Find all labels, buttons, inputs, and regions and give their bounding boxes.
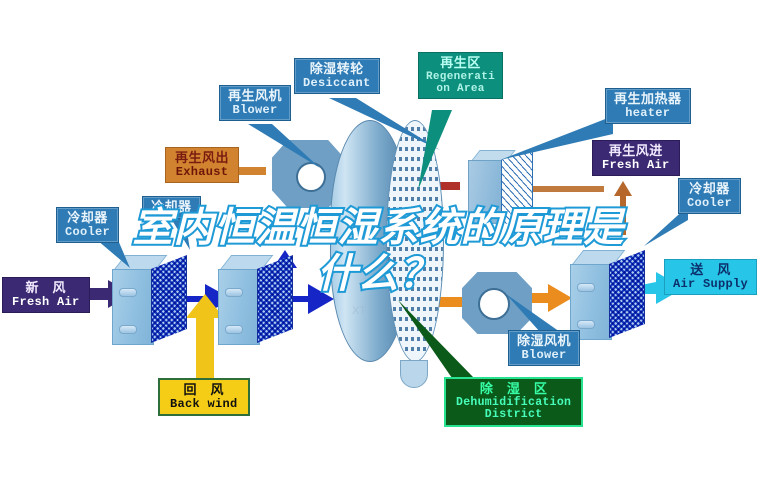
label-dehumidification-district: 除 湿 区 Dehumidification District xyxy=(444,377,583,427)
tail-dehum-district xyxy=(398,300,474,378)
label-en: Cooler xyxy=(65,226,110,239)
label-en: Back wind xyxy=(170,398,238,411)
label-en: Cooler xyxy=(687,197,732,210)
tail-regen-blower xyxy=(248,124,320,168)
label-cn: 冷却器 xyxy=(151,200,192,215)
label-en-2: on Area xyxy=(426,83,495,95)
label-cn: 除湿转轮 xyxy=(303,62,371,77)
label-fresh-air-intake: 新 风 Fresh Air xyxy=(2,277,90,313)
label-cn: 再生风出 xyxy=(175,151,229,166)
label-en: Air Supply xyxy=(673,278,748,291)
label-cn: 除 湿 区 xyxy=(456,382,571,397)
label-cooler-left-1: 冷却器 Cooler xyxy=(56,207,119,243)
label-dehumidification-blower: 除湿风机 Blower xyxy=(508,330,580,366)
label-en: Fresh Air xyxy=(602,159,670,172)
label-en: Exhaust xyxy=(175,166,229,179)
label-cn: 再生风机 xyxy=(228,89,282,104)
label-en: Regenerati xyxy=(426,71,495,83)
label-cooler-right: 冷却器 Cooler xyxy=(678,178,741,214)
label-air-supply: 送 风 Air Supply xyxy=(664,259,757,295)
label-regeneration-heater: 再生加热器 heater xyxy=(605,88,691,124)
label-cn: 再生区 xyxy=(426,56,495,71)
label-en: heater xyxy=(614,107,682,120)
label-en: Fresh Air xyxy=(12,296,80,309)
label-cn: 除湿风机 xyxy=(517,334,571,349)
label-en: Blower xyxy=(228,104,282,117)
label-exhaust: 再生风出 Exhaust xyxy=(165,147,239,183)
tail-dehum-blower xyxy=(506,294,560,332)
label-regeneration-area: 再生区 Regenerati on Area xyxy=(418,52,503,99)
label-en: Desiccant xyxy=(303,77,371,90)
tail-regen-area xyxy=(418,110,452,190)
label-cn: 送 风 xyxy=(673,263,748,278)
tail-desiccant-rotor xyxy=(329,98,440,150)
tail-cooler-left-1 xyxy=(97,240,130,268)
label-cn: 新 风 xyxy=(12,281,80,296)
label-cn: 再生风进 xyxy=(602,144,670,159)
label-cn: 回 风 xyxy=(170,383,238,398)
label-regeneration-blower: 再生风机 Blower xyxy=(219,85,291,121)
label-cn: 冷却器 xyxy=(687,182,732,197)
label-en-2: District xyxy=(456,409,571,422)
label-en: Blower xyxy=(517,349,571,362)
label-back-wind: 回 风 Back wind xyxy=(158,378,250,416)
label-desiccant-rotor: 除湿转轮 Desiccant xyxy=(294,58,380,94)
label-regeneration-fresh-air: 再生风进 Fresh Air xyxy=(592,140,680,176)
label-cn: 再生加热器 xyxy=(614,92,682,107)
label-cn: 冷却器 xyxy=(65,211,110,226)
hvac-process-diagram: XT xyxy=(0,0,757,488)
label-cooler-left-2: 冷却器 xyxy=(142,196,201,219)
